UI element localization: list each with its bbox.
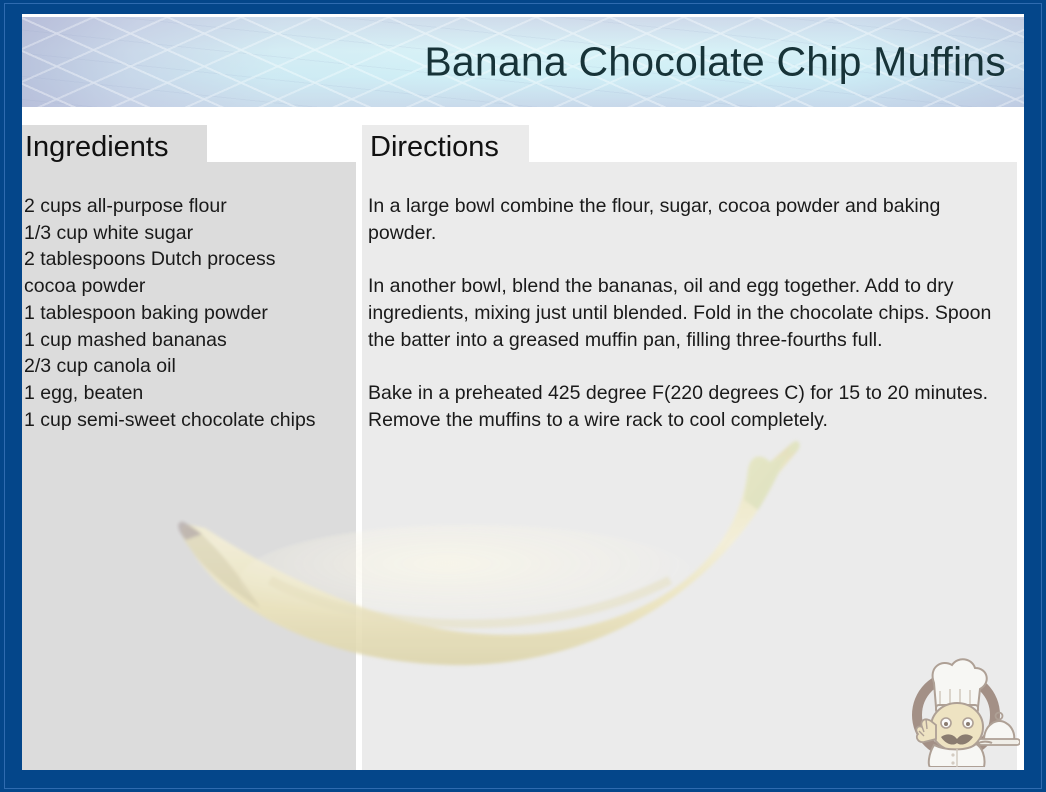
tab-ingredients[interactable]: Ingredients xyxy=(17,125,207,170)
list-item: 1 cup semi-sweet chocolate chips xyxy=(24,407,364,434)
direction-step: In another bowl, blend the bananas, oil … xyxy=(368,273,1012,353)
list-item: 2/3 cup canola oil xyxy=(24,353,364,380)
tab-directions[interactable]: Directions xyxy=(362,125,529,170)
recipe-slide: Banana Chocolate Chip Muffins Ingredient… xyxy=(0,0,1046,792)
list-item: 1 cup mashed bananas xyxy=(24,327,364,354)
list-item: 1 tablespoon baking powder xyxy=(24,300,364,327)
directions-body: In a large bowl combine the flour, sugar… xyxy=(368,193,1012,433)
header-banner: Banana Chocolate Chip Muffins xyxy=(17,17,1028,107)
direction-step: Bake in a preheated 425 degree F(220 deg… xyxy=(368,380,1012,433)
list-item: 1/3 cup white sugar xyxy=(24,220,364,247)
list-item: 1 egg, beaten xyxy=(24,380,364,407)
page-title: Banana Chocolate Chip Muffins xyxy=(424,39,1006,86)
list-item: 2 cups all-purpose flour xyxy=(24,193,364,220)
tab-ingredients-label: Ingredients xyxy=(25,133,169,162)
direction-step: In a large bowl combine the flour, sugar… xyxy=(368,193,1012,246)
list-item: cocoa powder xyxy=(24,273,364,300)
tab-directions-label: Directions xyxy=(370,133,499,162)
chef-logo xyxy=(898,645,1020,767)
list-item: 2 tablespoons Dutch process xyxy=(24,246,364,273)
ingredients-list: 2 cups all-purpose flour 1/3 cup white s… xyxy=(24,193,364,433)
